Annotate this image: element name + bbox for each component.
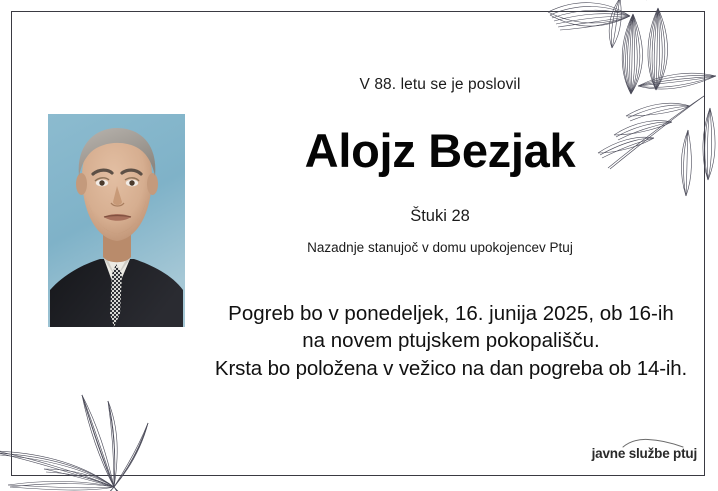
botanical-decoration-bottom-left xyxy=(0,345,173,491)
obituary-notice: V 88. letu se je poslovil Alojz Bezjak Š… xyxy=(0,0,718,491)
residence-text: Nazadnje stanujoč v domu upokojencev Ptu… xyxy=(180,240,700,255)
funeral-line-1: Pogreb bo v ponedeljek, 16. junija 2025,… xyxy=(192,300,710,327)
logo-text: javne službe ptuj xyxy=(592,446,697,461)
funeral-line-3: Krsta bo položena v vežico na dan pogreb… xyxy=(192,355,710,382)
portrait-photo xyxy=(48,114,185,327)
funeral-line-2: na novem ptujskem pokopališču. xyxy=(192,327,710,354)
funeral-details: Pogreb bo v ponedeljek, 16. junija 2025,… xyxy=(192,300,710,382)
logo-arc-icon xyxy=(622,438,684,448)
eyebrow-text: V 88. letu se je poslovil xyxy=(200,76,680,94)
address-text: Štuki 28 xyxy=(200,207,680,226)
publisher-logo: javne službe ptuj xyxy=(575,445,697,463)
deceased-name: Alojz Bezjak xyxy=(200,126,680,175)
